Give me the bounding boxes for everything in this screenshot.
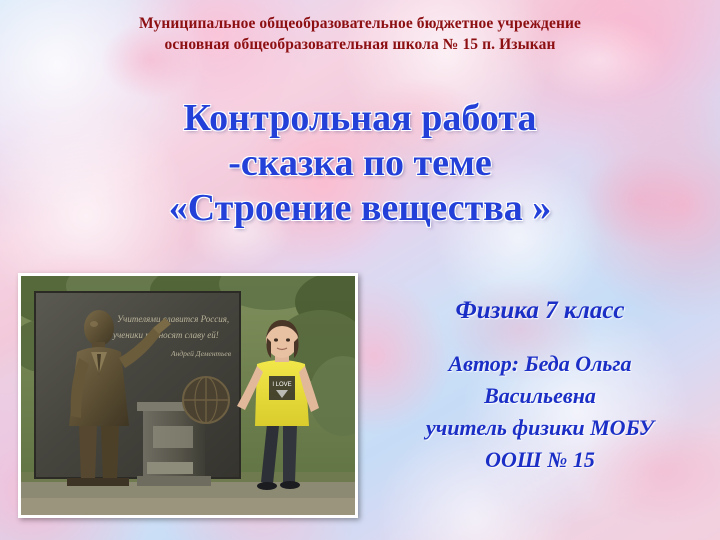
title-line-2: -сказка по теме <box>10 141 710 186</box>
slide-title: Контрольная работа -сказка по теме «Стро… <box>10 96 710 230</box>
svg-text:Учителями славится Россия,: Учителями славится Россия, <box>117 314 229 324</box>
author-line-2: Васильевна <box>372 380 708 412</box>
slide-right-column: Физика 7 класс Автор: Беда Ольга Василье… <box>372 296 708 476</box>
photo-image: Учителями славится Россия, ученики прино… <box>21 276 355 515</box>
school-name-header: Муниципальное общеобразовательное бюджет… <box>30 14 690 56</box>
author-line-1: Автор: Беда Ольга <box>372 348 708 380</box>
school-name-line-1: Муниципальное общеобразовательное бюджет… <box>30 14 690 35</box>
svg-text:I LOVE: I LOVE <box>272 382 291 388</box>
svg-text:Андрей Дементьев: Андрей Дементьев <box>170 349 232 358</box>
author-line-4: ООШ № 15 <box>372 444 708 476</box>
title-line-3: «Строение вещества » <box>10 186 710 231</box>
school-name-line-2: основная общеобразовательная школа № 15 … <box>30 35 690 56</box>
subject-line: Физика 7 класс <box>372 296 708 326</box>
title-line-1: Контрольная работа <box>10 96 710 141</box>
monument-photo: Учителями славится Россия, ученики прино… <box>18 273 358 518</box>
presentation-slide: Муниципальное общеобразовательное бюджет… <box>0 0 720 540</box>
author-line-3: учитель физики МОБУ <box>372 412 708 444</box>
svg-text:ученики приносят славу ей!: ученики приносят славу ей! <box>112 330 219 340</box>
author-block: Автор: Беда Ольга Васильевна учитель физ… <box>372 348 708 476</box>
